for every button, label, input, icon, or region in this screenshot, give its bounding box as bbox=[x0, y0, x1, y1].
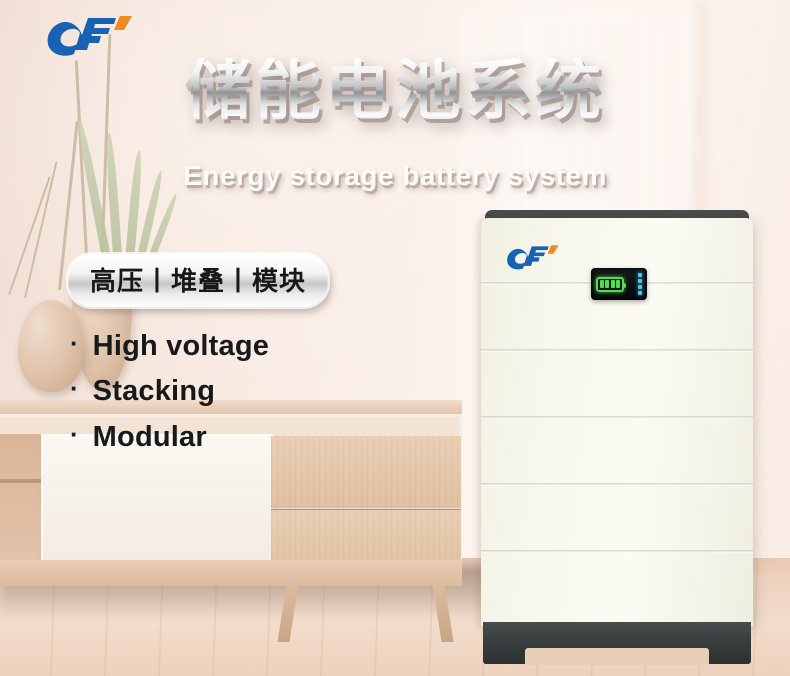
list-item: · High voltage bbox=[70, 330, 400, 363]
module-seam bbox=[481, 550, 753, 553]
battery-base-notch bbox=[525, 648, 709, 665]
module-seam bbox=[481, 416, 753, 419]
module-seam bbox=[481, 483, 753, 486]
battery-level-icon bbox=[596, 277, 624, 292]
status-led bbox=[638, 291, 642, 295]
sideboard-leg-left bbox=[277, 584, 298, 642]
sideboard-leg-right bbox=[432, 584, 453, 642]
status-led bbox=[638, 285, 642, 289]
battery-module-column bbox=[481, 218, 753, 626]
module-seam bbox=[481, 349, 753, 352]
bullet-icon: · bbox=[70, 421, 79, 447]
status-led-indicators bbox=[638, 273, 642, 295]
feature-badge-pill: 高压丨堆叠丨模块 bbox=[68, 254, 328, 307]
list-item: · Modular bbox=[70, 421, 400, 454]
battery-stack-product bbox=[481, 210, 753, 665]
sideboard-plinth bbox=[0, 560, 462, 586]
battery-bar bbox=[600, 280, 604, 288]
list-item: · Stacking bbox=[70, 375, 400, 408]
feature-list: · High voltage · Stacking · Modular bbox=[70, 330, 400, 466]
page-title-cn: 储能电池系统 bbox=[0, 58, 790, 124]
poster-stage: 储能电池系统 Energy storage battery system 高压丨… bbox=[0, 0, 790, 676]
bullet-icon: · bbox=[70, 375, 79, 401]
battery-bar bbox=[611, 280, 615, 288]
cf-logo bbox=[44, 14, 156, 60]
battery-status-display bbox=[591, 268, 647, 300]
feature-label: Stacking bbox=[93, 375, 215, 408]
status-led bbox=[638, 273, 642, 277]
bullet-icon: · bbox=[70, 330, 79, 356]
product-cf-logo bbox=[503, 244, 575, 272]
feature-label: High voltage bbox=[93, 330, 269, 363]
battery-bar bbox=[616, 280, 620, 288]
battery-bar bbox=[605, 280, 609, 288]
status-led bbox=[638, 279, 642, 283]
feature-label: Modular bbox=[93, 421, 207, 454]
page-subtitle-en: Energy storage battery system bbox=[0, 160, 790, 192]
